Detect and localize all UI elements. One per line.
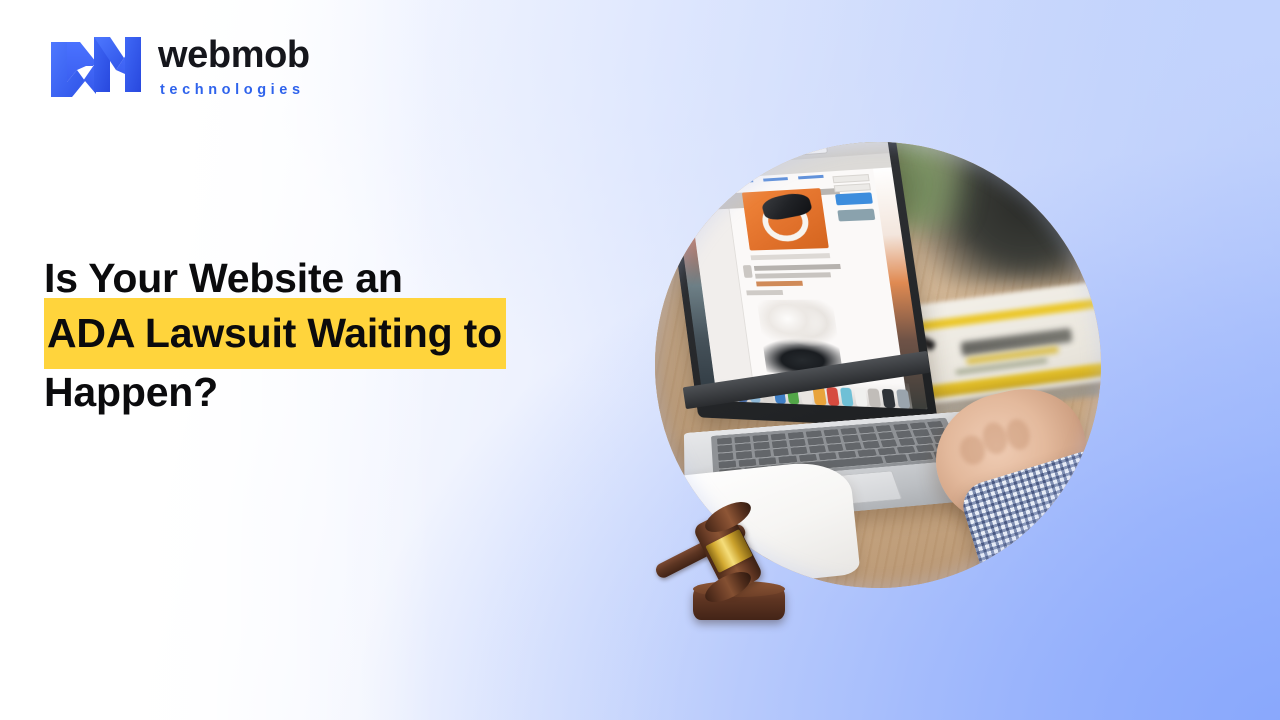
banner-root: webmob technologies Is Your Website an A… xyxy=(0,0,1280,720)
page-text-line-1 xyxy=(754,264,841,271)
page-input-field-1 xyxy=(832,174,869,183)
webmob-monogram-icon xyxy=(50,36,142,98)
page-text-line-4 xyxy=(746,289,783,294)
headline-highlight-mark: ADA Lawsuit Waiting to xyxy=(44,298,506,369)
headline-block: Is Your Website an ADA Lawsuit Waiting t… xyxy=(44,258,604,413)
page-secondary-product-photo xyxy=(756,299,842,374)
window-control-dots xyxy=(674,155,690,160)
page-text-line-2 xyxy=(755,272,831,278)
brand-logo[interactable]: webmob technologies xyxy=(50,36,310,98)
page-meta-row xyxy=(750,253,829,261)
logo-brand-name: webmob xyxy=(158,36,310,76)
logo-wordmark: webmob technologies xyxy=(158,36,310,97)
page-comment-avatar xyxy=(743,265,753,278)
page-text-line-3 xyxy=(756,280,803,285)
page-input-field-2 xyxy=(834,182,871,191)
page-primary-button xyxy=(835,192,872,205)
headline-line-1: Is Your Website an xyxy=(44,258,604,299)
judges-gavel xyxy=(651,498,841,628)
knuckle-3 xyxy=(1003,417,1032,452)
headline-line-2-highlighted: ADA Lawsuit Waiting to xyxy=(44,313,604,354)
headline-line-3: Happen? xyxy=(44,372,604,413)
page-product-image xyxy=(741,188,828,251)
page-secondary-button xyxy=(837,208,874,220)
logo-tagline: technologies xyxy=(160,83,310,98)
hero-photo xyxy=(655,142,1101,588)
